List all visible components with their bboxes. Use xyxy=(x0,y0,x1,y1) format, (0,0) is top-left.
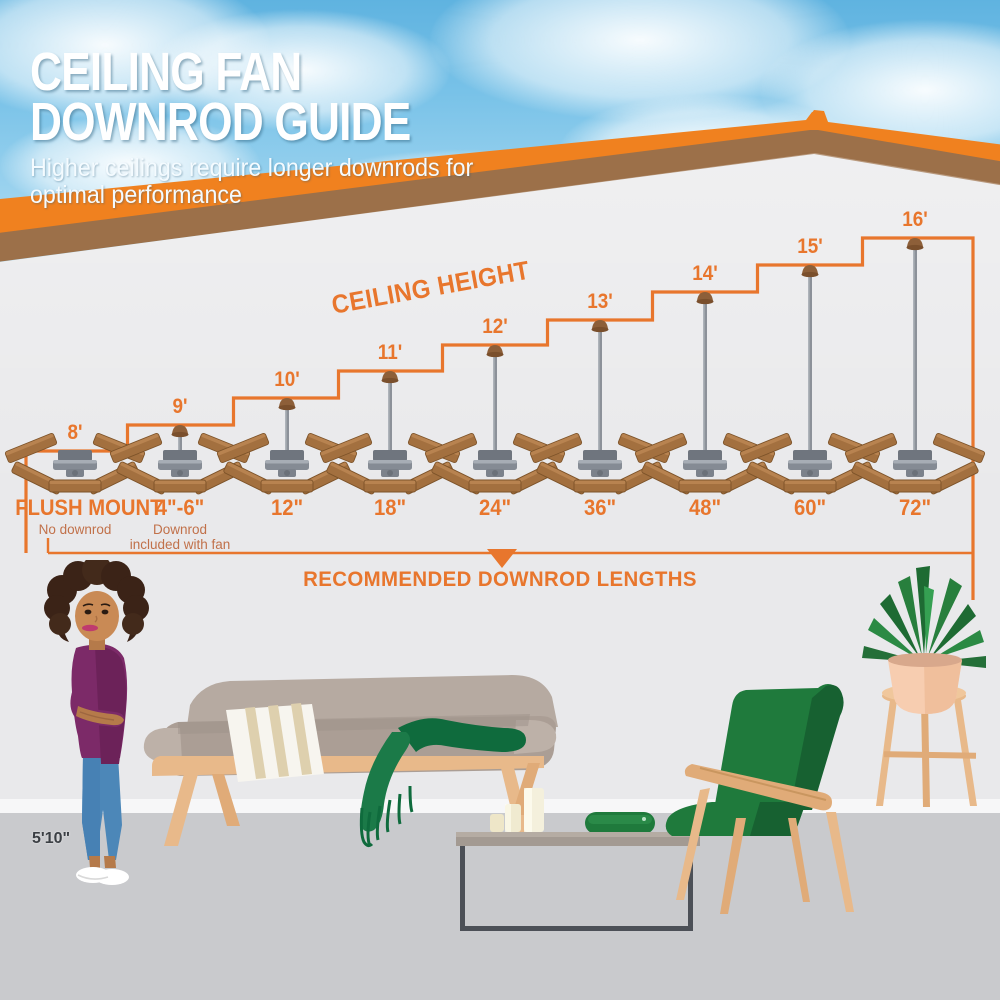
canopy-base xyxy=(487,352,504,357)
canopy-base xyxy=(907,245,924,250)
ceiling-height-label-16ft: 16' xyxy=(902,208,928,232)
fan-blade xyxy=(933,433,986,464)
canopy-base xyxy=(382,378,399,383)
fan-blade xyxy=(154,480,206,492)
downrod-note: Downrodincluded with fan xyxy=(115,522,245,553)
ceiling-height-label-15ft: 15' xyxy=(797,235,823,259)
fan-light-kit xyxy=(177,470,183,476)
title-block: CEILING FAN DOWNROD GUIDE Higher ceiling… xyxy=(30,48,590,208)
ceiling-height-label-10ft: 10' xyxy=(274,368,300,392)
fan-motor-top xyxy=(898,450,932,461)
ceiling-height-label-14ft: 14' xyxy=(692,262,718,286)
fan-motor-top xyxy=(583,450,617,461)
blade-highlight xyxy=(574,480,626,484)
fan-light-kit xyxy=(387,470,393,476)
fan-motor-highlight xyxy=(368,460,412,464)
fan-blade xyxy=(784,480,836,492)
downrod-highlight xyxy=(913,240,915,450)
fan-blade xyxy=(574,480,626,492)
bracket-arrow-icon xyxy=(487,549,517,568)
recommended-downrod-caption: RECOMMENDED DOWNROD LENGTHS xyxy=(25,567,975,592)
canopy-base xyxy=(697,299,714,304)
person-shoe xyxy=(95,869,129,885)
blade-highlight xyxy=(679,480,731,484)
fan-blade xyxy=(49,480,101,492)
fan-motor-top xyxy=(478,450,512,461)
downrod-highlight xyxy=(808,267,810,450)
throw-pillow xyxy=(226,703,324,782)
fan-motor-highlight xyxy=(265,460,309,464)
blade-highlight xyxy=(364,480,416,484)
chair-leg xyxy=(826,812,854,912)
table-frame xyxy=(460,926,693,931)
fan-light-kit xyxy=(597,470,603,476)
blade-highlight xyxy=(889,480,941,484)
page-subtitle: Higher ceilings require longer downrods … xyxy=(30,155,551,208)
ceiling-height-label-12ft: 12' xyxy=(482,315,508,339)
lounge-chair xyxy=(666,684,854,914)
fan-blade xyxy=(889,480,941,492)
fan-light-kit xyxy=(807,470,813,476)
downrod-highlight xyxy=(703,294,705,450)
fan-blade xyxy=(679,480,731,492)
chair-leg xyxy=(788,818,810,902)
blade-highlight xyxy=(154,480,206,484)
downrod-highlight xyxy=(388,373,390,450)
fan-light-kit xyxy=(284,470,290,476)
fan-blade xyxy=(469,480,521,492)
fan-motor-top xyxy=(163,450,197,461)
blade-highlight xyxy=(49,480,101,484)
fan-motor-highlight xyxy=(893,460,937,464)
ceiling-height-label-9ft: 9' xyxy=(172,395,187,419)
fan-motor-highlight xyxy=(788,460,832,464)
fan-light-kit xyxy=(702,470,708,476)
fan-blade xyxy=(261,480,313,492)
sofa-leg xyxy=(164,774,198,846)
canopy-base xyxy=(279,405,296,410)
fan-motor-highlight xyxy=(578,460,622,464)
blade-highlight xyxy=(784,480,836,484)
person-ankles xyxy=(89,856,100,868)
fan-assembly-15ft xyxy=(740,265,881,495)
downrod-length-value: 72" xyxy=(855,495,975,521)
fan-motor-highlight xyxy=(158,460,202,464)
fan-assembly-16ft xyxy=(845,238,986,495)
infographic-canvas: CEILING FAN DOWNROD GUIDE Higher ceiling… xyxy=(0,0,1000,1000)
canopy-base xyxy=(802,272,819,277)
blade-highlight xyxy=(261,480,313,484)
room-furniture xyxy=(0,560,1000,1000)
sofa-leg xyxy=(212,774,240,826)
fan-motor-highlight xyxy=(683,460,727,464)
canopy-base xyxy=(592,327,609,332)
ceiling-height-label-11ft: 11' xyxy=(378,341,402,365)
person-height-label: 5'10" xyxy=(32,830,70,848)
fan-light-kit xyxy=(912,470,918,476)
downrod-highlight xyxy=(598,322,600,450)
ceiling-height-label-8ft: 8' xyxy=(67,421,82,445)
coffee-table xyxy=(456,788,700,931)
fan-motor-top xyxy=(688,450,722,461)
fan-motor-highlight xyxy=(473,460,517,464)
candle xyxy=(490,814,504,832)
fan-motor-highlight xyxy=(53,460,97,464)
ceiling-height-label-13ft: 13' xyxy=(587,290,613,314)
page-title-line2: DOWNROD GUIDE xyxy=(30,98,489,148)
fan-light-kit xyxy=(492,470,498,476)
downrod-label-16ft: 72" xyxy=(850,495,980,521)
fan-motor-top xyxy=(373,450,407,461)
canopy-base xyxy=(172,432,189,437)
blade-highlight xyxy=(469,480,521,484)
fan-blade xyxy=(5,433,58,464)
page-title-line1: CEILING FAN xyxy=(30,48,489,98)
fan-light-kit xyxy=(72,470,78,476)
downrod-highlight xyxy=(493,347,495,450)
fan-motor-top xyxy=(58,450,92,461)
table-frame xyxy=(460,846,465,930)
fan-motor-top xyxy=(793,450,827,461)
fan-motor-top xyxy=(270,450,304,461)
fan-blade xyxy=(364,480,416,492)
